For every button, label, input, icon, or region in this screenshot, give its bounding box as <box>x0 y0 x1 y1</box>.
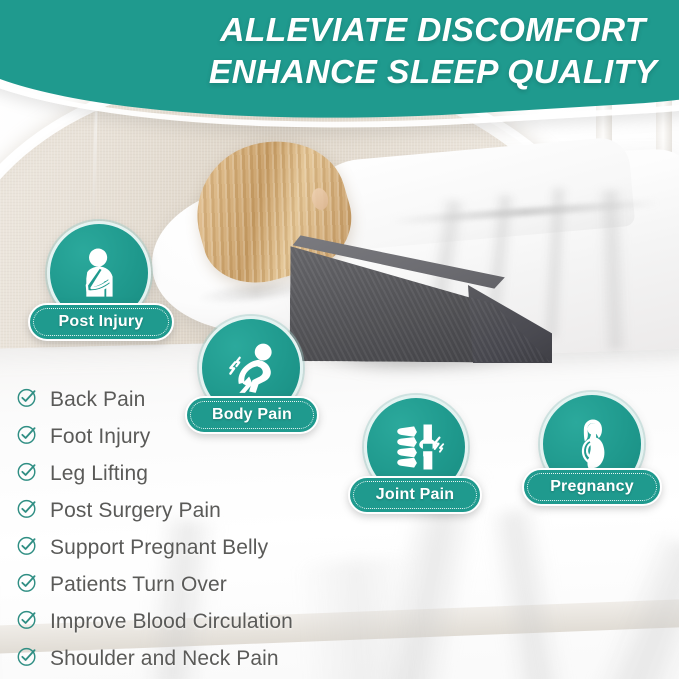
sheet-fold <box>295 556 424 679</box>
list-item-label: Post Surgery Pain <box>50 499 221 523</box>
check-circle-icon <box>16 534 39 562</box>
list-item: Shoulder and Neck Pain <box>16 645 293 673</box>
list-item-label: Shoulder and Neck Pain <box>50 647 279 671</box>
check-circle-icon <box>16 497 39 525</box>
list-item-label: Improve Blood Circulation <box>50 610 293 634</box>
badge-label-joint-pain: Joint Pain <box>348 476 482 514</box>
list-item: Patients Turn Over <box>16 571 293 599</box>
list-item-label: Back Pain <box>50 388 145 412</box>
list-item: Post Surgery Pain <box>16 497 293 525</box>
list-item-label: Leg Lifting <box>50 462 148 486</box>
badge-label-pregnancy: Pregnancy <box>522 468 662 506</box>
list-item: Improve Blood Circulation <box>16 608 293 636</box>
badge-label-post-injury: Post Injury <box>28 303 174 341</box>
page-title: ALLEVIATE DISCOMFORT ENHANCE SLEEP QUALI… <box>196 10 670 94</box>
check-circle-icon <box>16 386 39 414</box>
list-item-label: Support Pregnant Belly <box>50 536 268 560</box>
list-item: Leg Lifting <box>16 460 293 488</box>
product-infographic: ALLEVIATE DISCOMFORT ENHANCE SLEEP QUALI… <box>0 0 679 679</box>
badge-label-body-pain: Body Pain <box>185 396 319 434</box>
check-circle-icon <box>16 460 39 488</box>
list-item-label: Patients Turn Over <box>50 573 227 597</box>
check-circle-icon <box>16 423 39 451</box>
badge-label-text: Post Injury <box>59 313 144 331</box>
badge-label-text: Body Pain <box>212 406 292 424</box>
check-circle-icon <box>16 571 39 599</box>
check-circle-icon <box>16 645 39 673</box>
check-circle-icon <box>16 608 39 636</box>
badge-label-text: Pregnancy <box>550 478 634 496</box>
duvet-fold <box>597 190 629 351</box>
badge-label-text: Joint Pain <box>376 486 454 504</box>
list-item-label: Foot Injury <box>50 425 150 449</box>
list-item: Support Pregnant Belly <box>16 534 293 562</box>
